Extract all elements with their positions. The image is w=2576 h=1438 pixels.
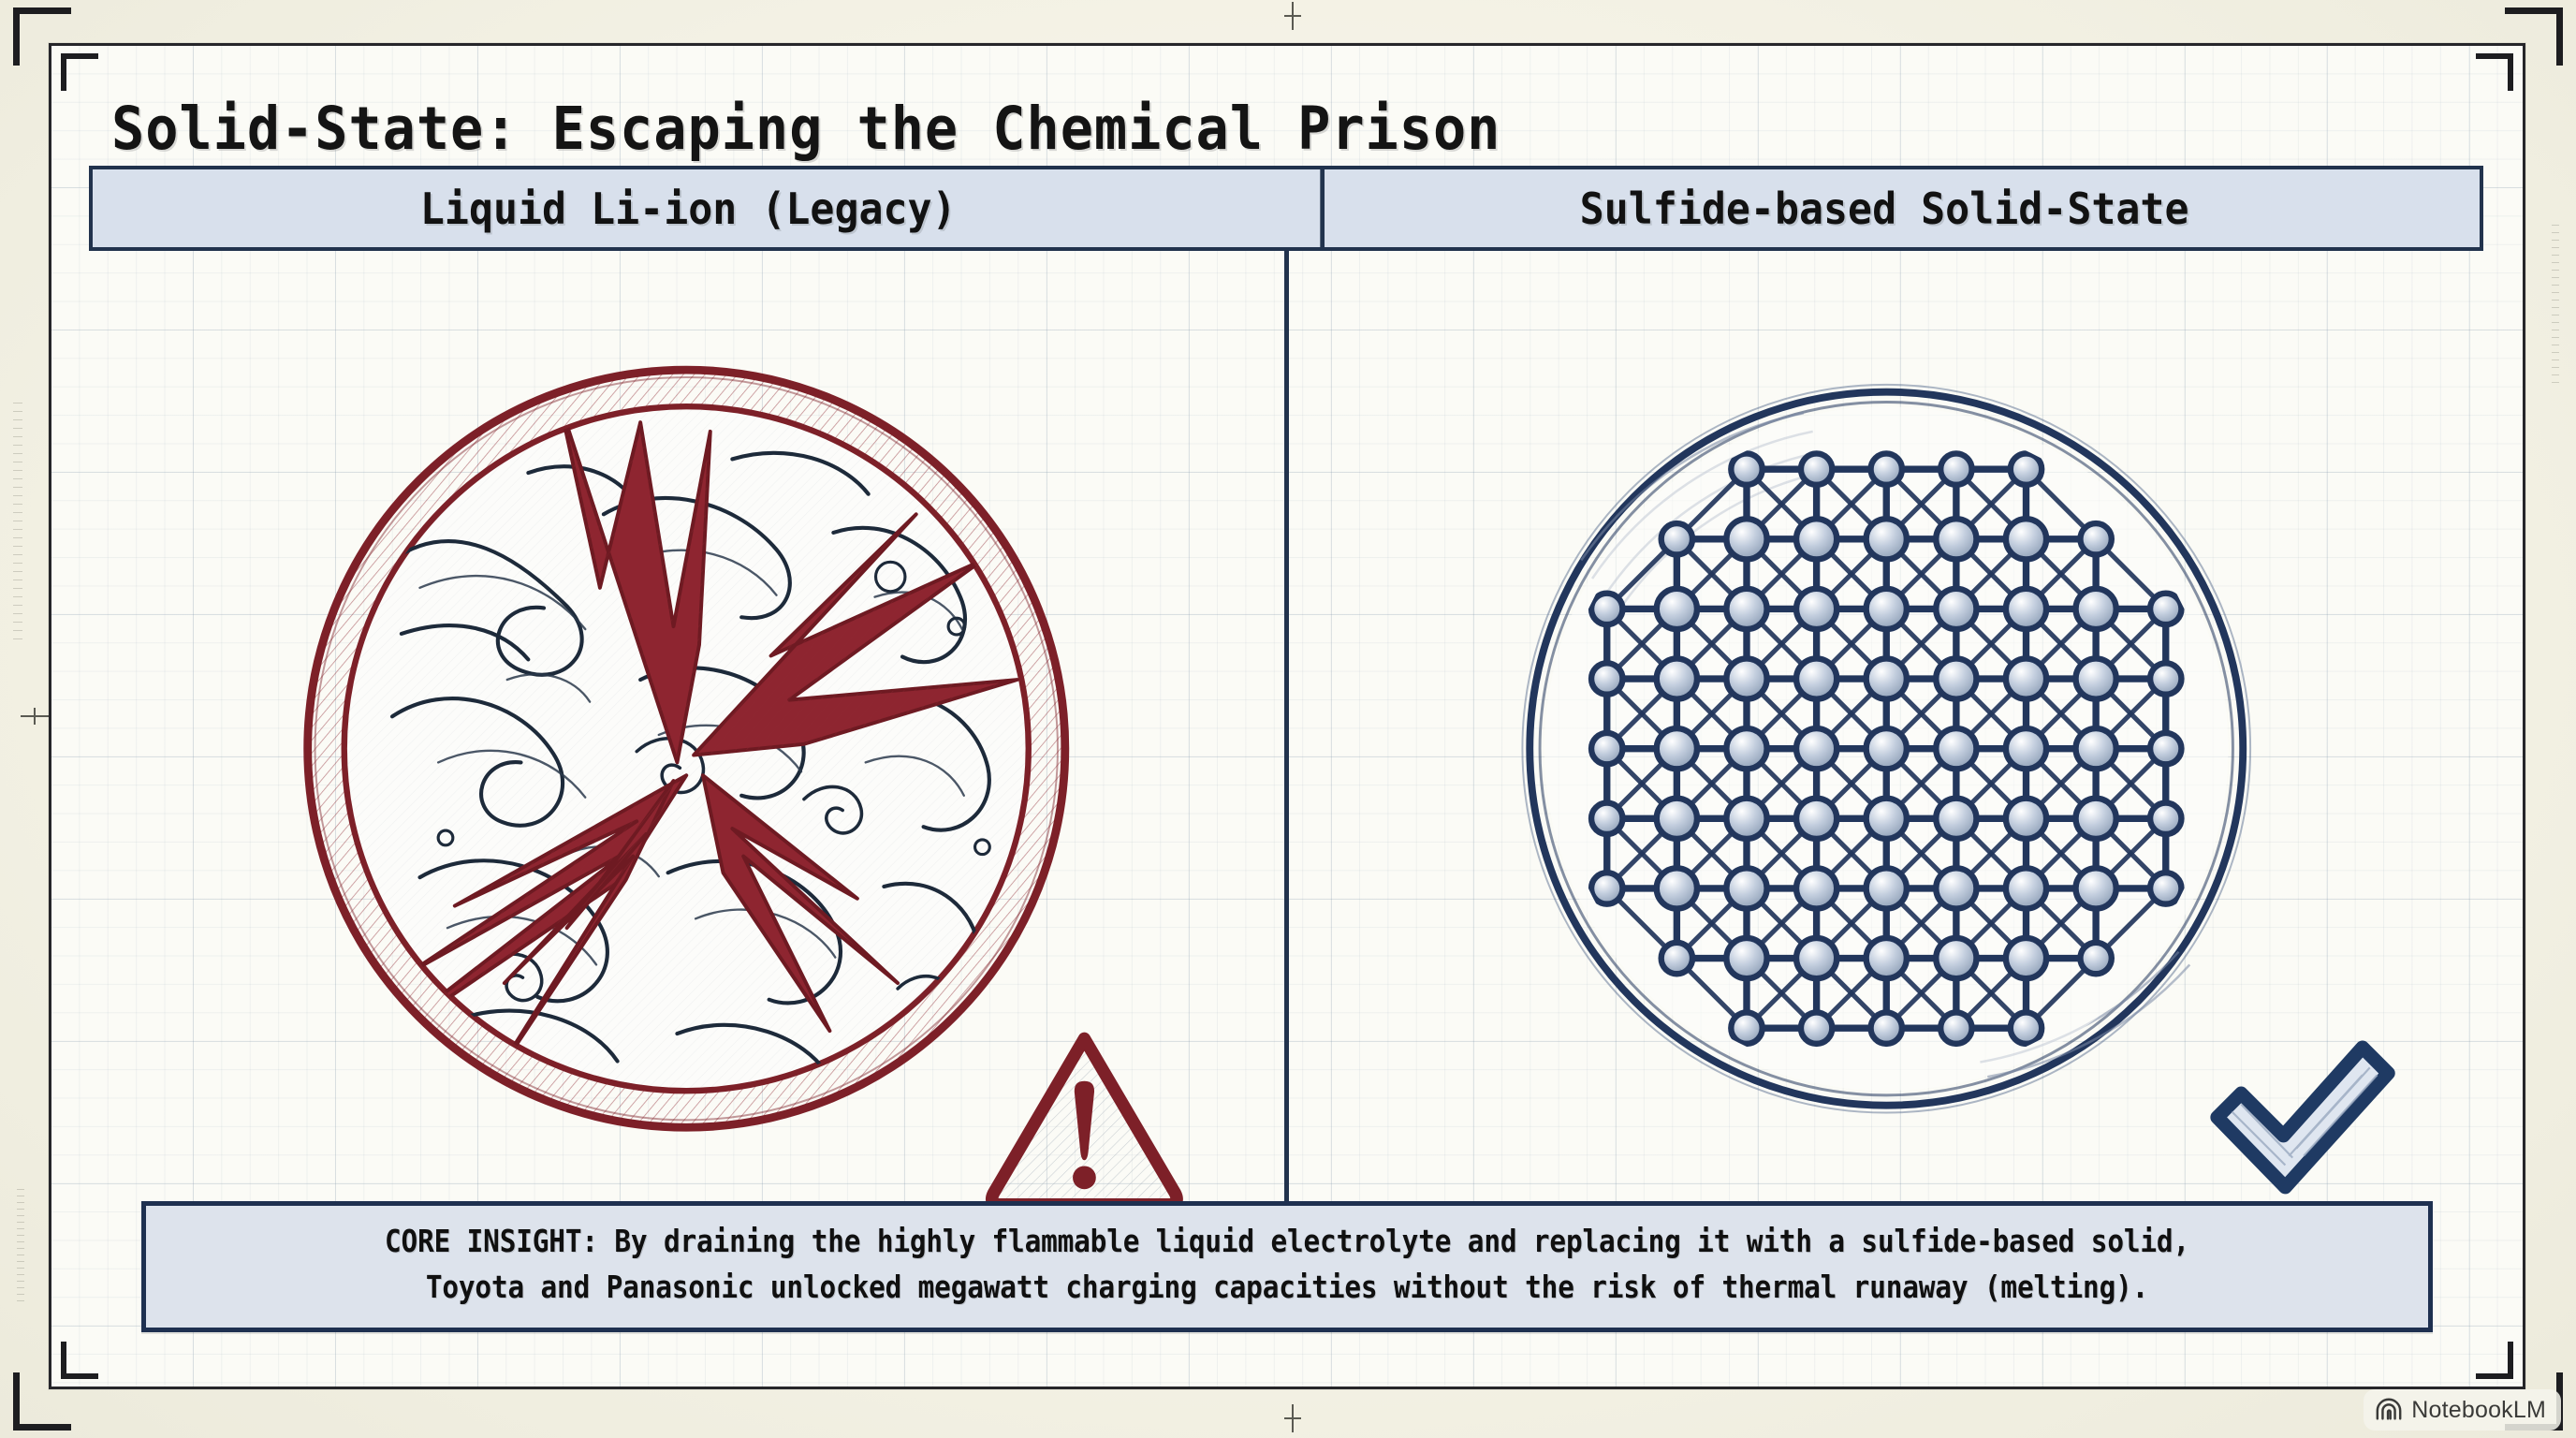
margin-ruler-ticks-left-lower (17, 1189, 24, 1301)
panel-liquid-li-ion (89, 251, 1284, 1265)
core-insight-caption-box: CORE INSIGHT: By draining the highly fla… (141, 1201, 2433, 1332)
inner-crop-mark-top-right (2476, 53, 2513, 91)
chaotic-liquid-electrolyte-illustration (89, 251, 1284, 1265)
notebooklm-label: NotebookLM (2411, 1397, 2546, 1424)
margin-ruler-ticks-right (2552, 225, 2559, 384)
crop-mark-bottom-left (13, 1372, 71, 1431)
panel-sulfide-solid-state (1284, 251, 2484, 1265)
comparison-header-row: Liquid Li-ion (Legacy) Sulfide-based Sol… (89, 166, 2483, 251)
ordered-crystal-lattice-illustration (1289, 251, 2484, 1265)
caption-line-1: CORE INSIGHT: By draining the highly fla… (276, 1219, 2297, 1265)
inner-crop-mark-bottom-right (2476, 1342, 2513, 1379)
margin-ruler-ticks-left (13, 403, 22, 646)
column-header-liquid-li-ion: Liquid Li-ion (Legacy) (128, 169, 1248, 247)
column-header-sulfide-solid-state: Sulfide-based Solid-State (1320, 169, 2444, 247)
graph-paper-sheet: Solid-State: Escaping the Chemical Priso… (49, 43, 2525, 1389)
inner-crop-mark-bottom-left (61, 1342, 98, 1379)
notebooklm-spiral-icon (2375, 1396, 2403, 1424)
inner-crop-mark-top-left (61, 53, 98, 91)
registration-mark-left (21, 708, 49, 725)
registration-mark-top (1284, 2, 1301, 30)
notebooklm-watermark: NotebookLM (2364, 1389, 2561, 1431)
check-mark-icon (2217, 1048, 2388, 1187)
warning-triangle-icon (992, 1038, 1178, 1204)
crop-mark-top-right (2505, 7, 2563, 66)
comparison-table: Liquid Li-ion (Legacy) Sulfide-based Sol… (89, 166, 2483, 1265)
comparison-panels (89, 251, 2483, 1265)
caption-line-2: Toyota and Panasonic unlocked megawatt c… (276, 1265, 2297, 1311)
page-title: Solid-State: Escaping the Chemical Priso… (111, 95, 1500, 163)
page-background: Solid-State: Escaping the Chemical Priso… (0, 0, 2576, 1438)
registration-mark-bottom (1284, 1404, 1301, 1432)
